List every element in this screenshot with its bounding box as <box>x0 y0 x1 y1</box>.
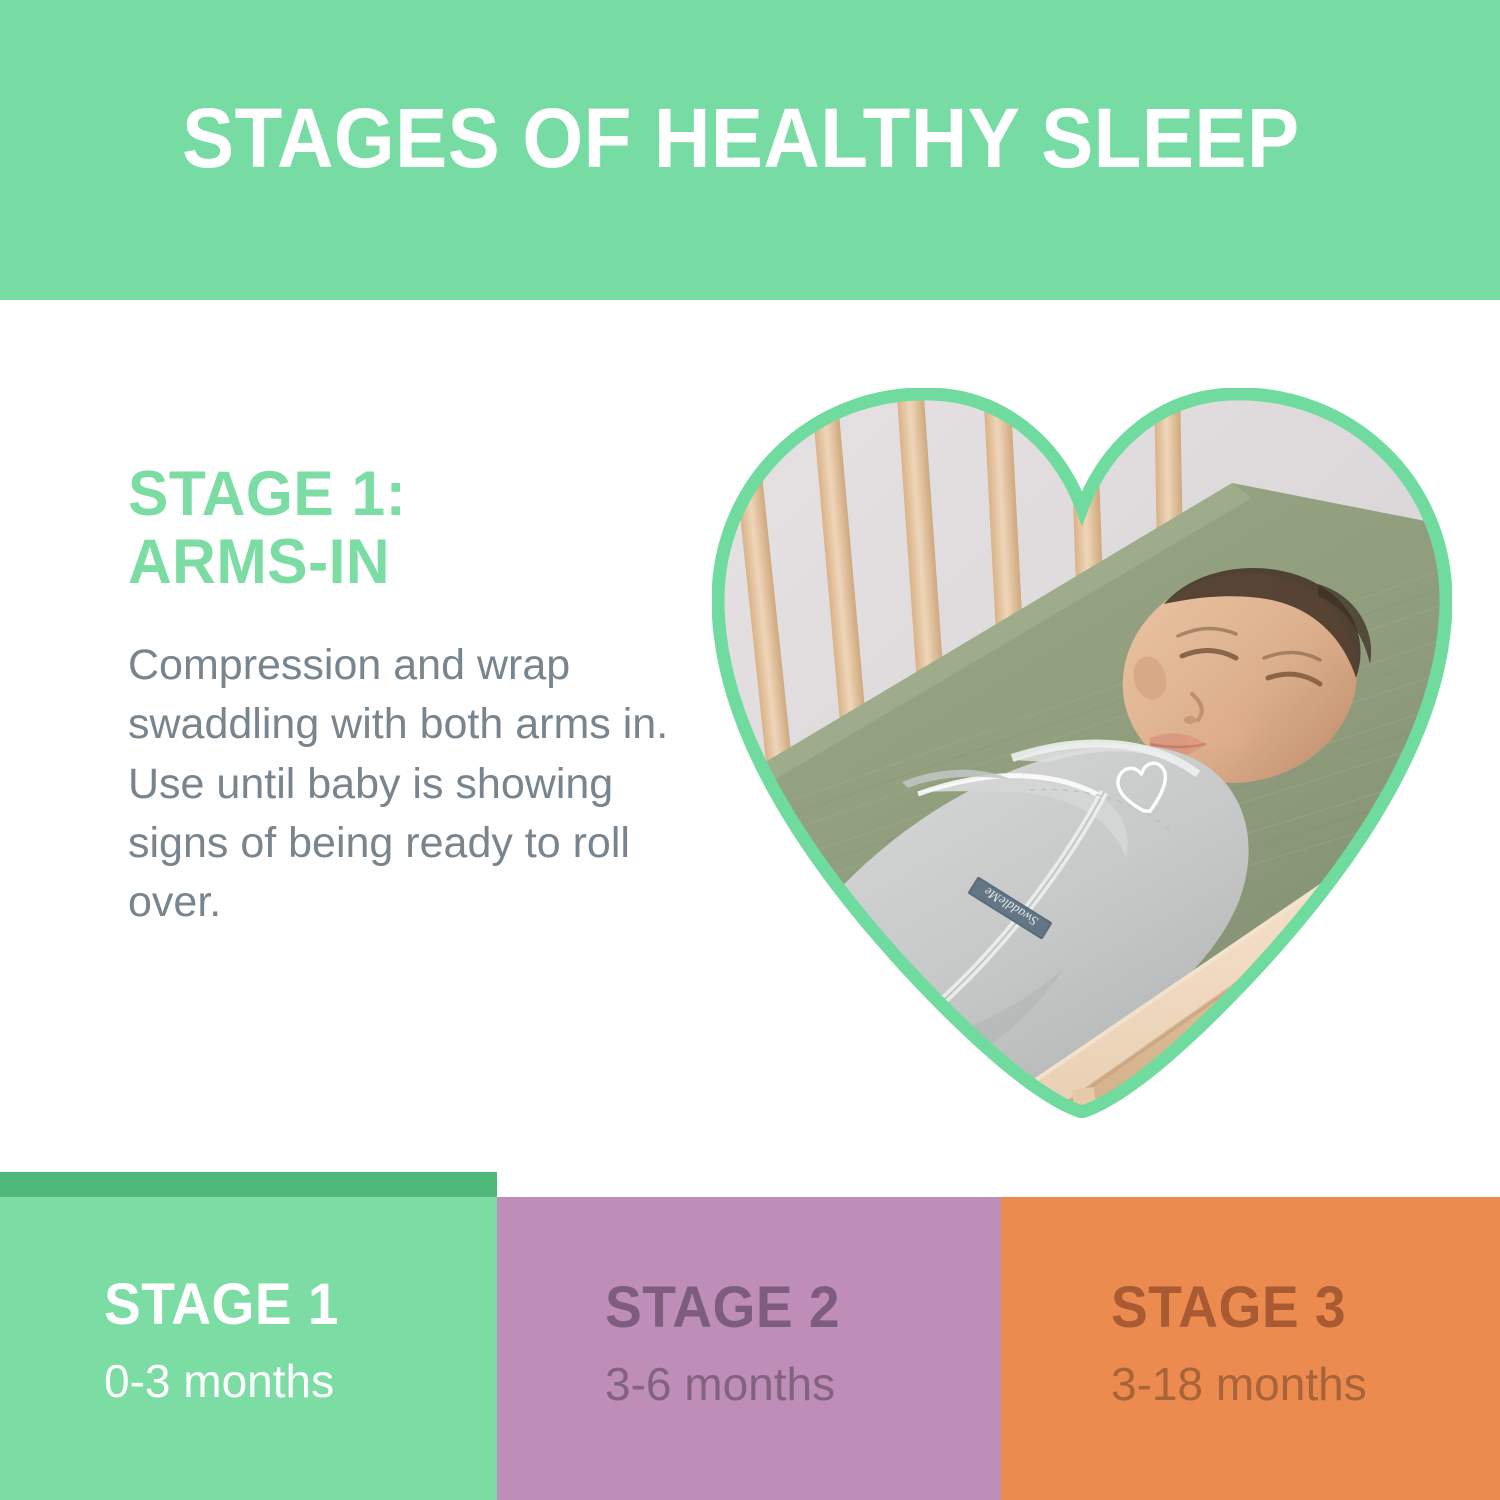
stage-bar-stage-3[interactable]: STAGE 3 3-18 months <box>1001 1197 1500 1500</box>
stage-description-text: Compression and wrap swaddling with both… <box>128 636 673 933</box>
heart-framed-photo: Newborn baby swaddled arms-in with a gra… <box>712 388 1452 1118</box>
stage-heading: STAGE 1: ARMS-IN <box>128 460 666 596</box>
stage-bar-stage-1[interactable]: STAGE 1 0-3 months <box>0 1172 497 1500</box>
page-title: STAGES OF HEALTHY SLEEP <box>182 96 1300 180</box>
stage-1-age-range: 0-3 months <box>104 1358 334 1404</box>
stage-bar-stage-2[interactable]: STAGE 2 3-6 months <box>497 1197 1001 1500</box>
stage-2-age-range: 3-6 months <box>605 1361 835 1407</box>
header-banner: STAGES OF HEALTHY SLEEP <box>0 0 1500 300</box>
stage-heading-line-1: STAGE 1: <box>128 460 666 528</box>
baby-swaddle-photo: Newborn baby swaddled arms-in with a gra… <box>712 388 1452 1118</box>
stage-2-label: STAGE 2 <box>605 1279 840 1337</box>
stage-1-active-indicator <box>0 1172 497 1197</box>
stage-1-label: STAGE 1 <box>104 1276 339 1334</box>
stage-timeline: STAGE 1 0-3 months STAGE 2 3-6 months ST… <box>0 1172 1500 1500</box>
stage-3-age-range: 3-18 months <box>1111 1361 1367 1407</box>
stage-description-panel: STAGE 1: ARMS-IN Compression and wrap sw… <box>128 460 688 933</box>
stage-3-label: STAGE 3 <box>1111 1279 1346 1337</box>
stage-heading-line-2: ARMS-IN <box>128 528 666 596</box>
